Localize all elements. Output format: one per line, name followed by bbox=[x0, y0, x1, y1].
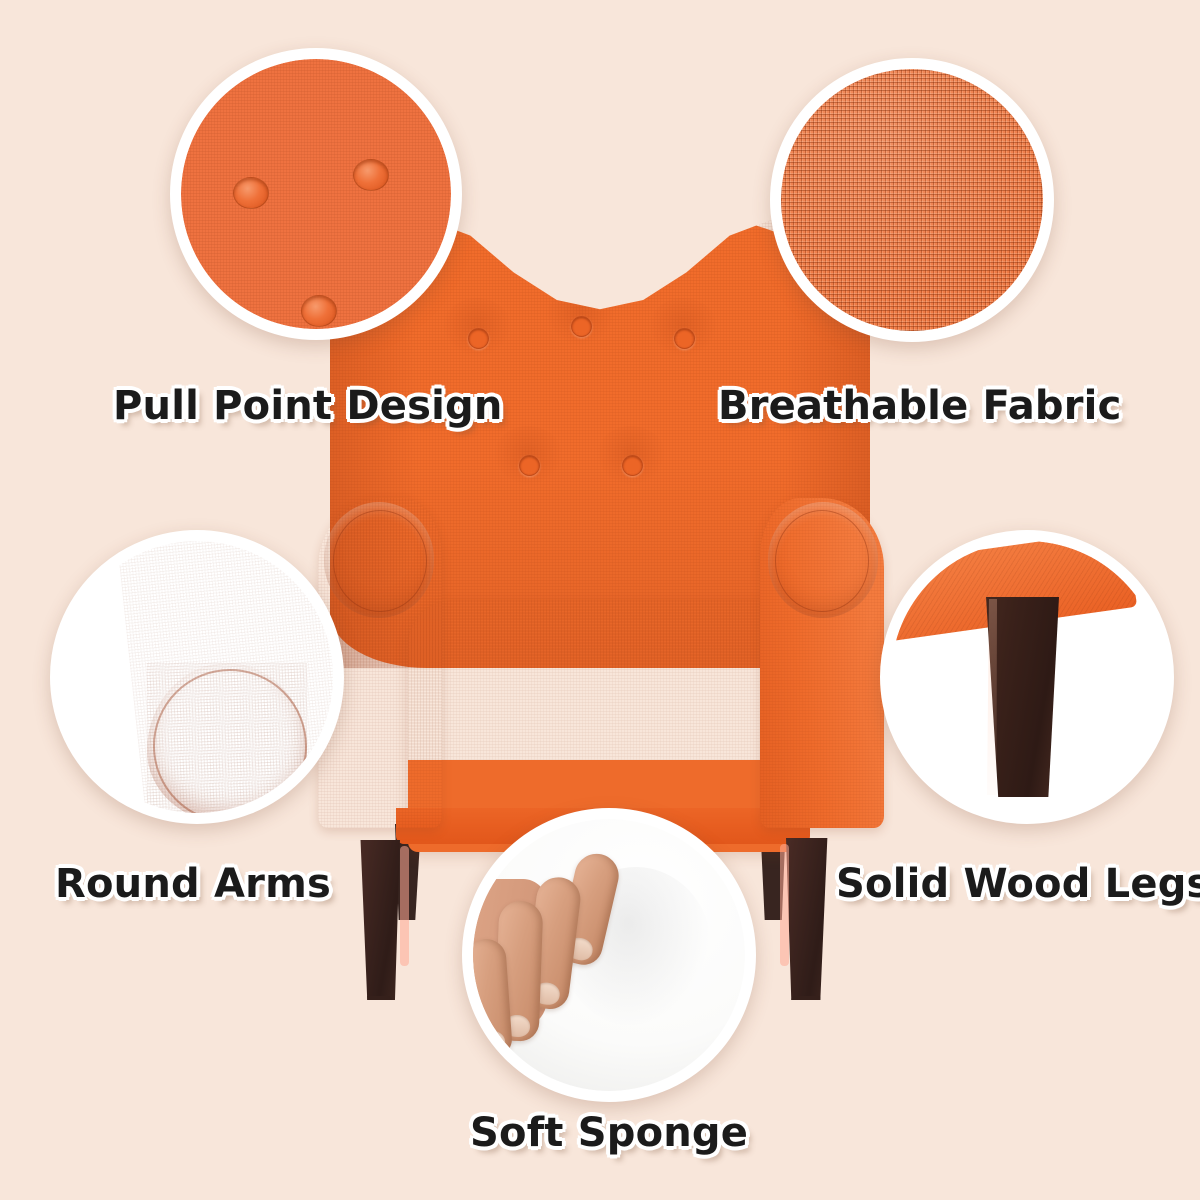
foam-press-closeup-image bbox=[473, 819, 745, 1091]
label-soft-sponge: Soft Sponge bbox=[470, 1110, 748, 1156]
leg-highlight bbox=[400, 846, 409, 966]
label-breathable-fabric: Breathable Fabric bbox=[718, 383, 1121, 429]
tufting-button bbox=[519, 455, 540, 476]
tufting-button bbox=[622, 455, 643, 476]
label-pull-point-design: Pull Point Design bbox=[113, 383, 503, 429]
rolled-arm-closeup-image bbox=[61, 541, 333, 813]
tufting-button bbox=[571, 316, 592, 337]
callout-circle-solid-wood-legs bbox=[880, 530, 1174, 824]
tufted-button-closeup-image bbox=[181, 59, 451, 329]
tufting-button bbox=[674, 328, 695, 349]
fabric-texture-overlay bbox=[760, 498, 884, 828]
wood-leg-closeup-image bbox=[891, 541, 1163, 813]
woven-fabric-closeup-image bbox=[781, 69, 1043, 331]
callout-circle-round-arms bbox=[50, 530, 344, 824]
arm-seam bbox=[153, 669, 307, 813]
hand-pressing-foam bbox=[473, 843, 682, 1068]
callout-circle-pull-point bbox=[170, 48, 462, 340]
label-round-arms: Round Arms bbox=[55, 861, 331, 907]
tufting-button bbox=[353, 159, 389, 191]
tufting-button bbox=[233, 177, 269, 209]
fingernail bbox=[478, 1030, 505, 1054]
leg-highlight bbox=[780, 844, 789, 966]
label-solid-wood-legs: Solid Wood Legs bbox=[836, 861, 1200, 907]
callout-circle-soft-sponge bbox=[462, 808, 756, 1102]
tufting-button bbox=[301, 295, 337, 327]
fabric-texture-overlay bbox=[181, 59, 451, 329]
callout-circle-breathable-fabric bbox=[770, 58, 1054, 342]
product-infographic: Pull Point Design Breathable Fabric Roun… bbox=[0, 0, 1200, 1200]
chair-front-right-leg bbox=[786, 838, 830, 1000]
chair-right-arm bbox=[760, 498, 884, 828]
chair-front-left-leg bbox=[358, 840, 400, 1000]
tufting-button bbox=[468, 328, 489, 349]
